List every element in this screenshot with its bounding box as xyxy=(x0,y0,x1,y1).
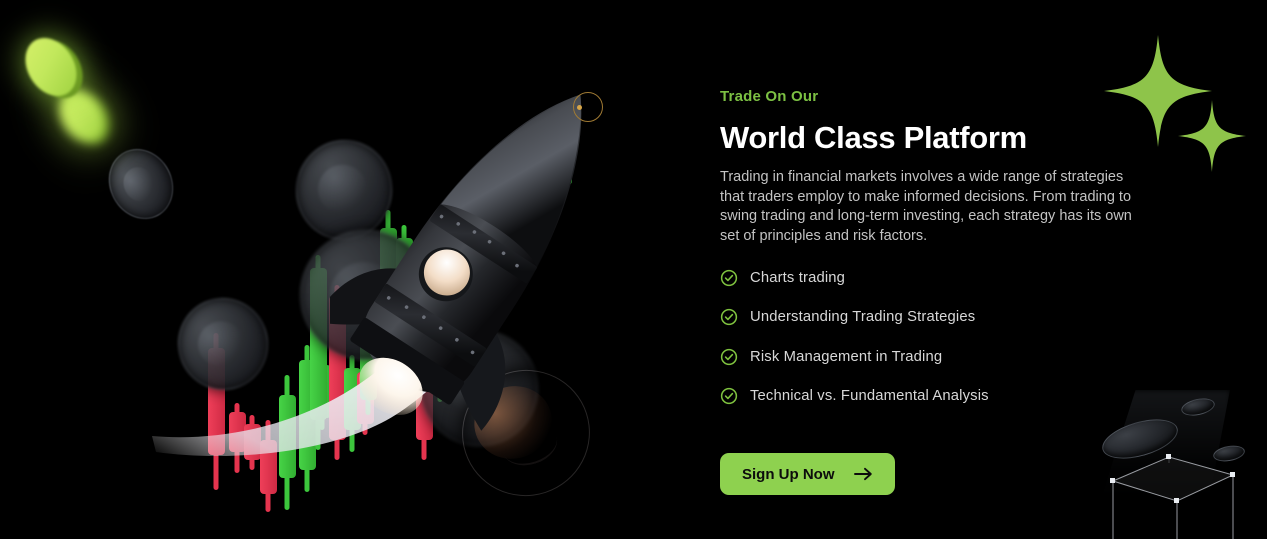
rocket-candlestick-illustration xyxy=(0,0,660,539)
candlestick-body xyxy=(244,424,261,460)
feature-label: Understanding Trading Strategies xyxy=(750,309,975,325)
feature-label: Risk Management in Trading xyxy=(750,349,942,365)
check-circle-icon xyxy=(720,348,738,366)
hero-content: Trade On Our World Class Platform Tradin… xyxy=(720,0,1200,539)
feature-label: Charts trading xyxy=(750,270,845,286)
page-title: World Class Platform xyxy=(720,120,1027,156)
orbit-dot-icon xyxy=(577,105,582,110)
feature-label: Technical vs. Fundamental Analysis xyxy=(750,388,989,404)
list-item: Charts trading xyxy=(720,258,1140,298)
candlestick-body xyxy=(260,440,277,494)
sign-up-button-label: Sign Up Now xyxy=(742,466,835,483)
candlestick-down xyxy=(260,420,277,512)
orbit-ring-icon xyxy=(573,92,603,122)
hero-section: Trade On Our World Class Platform Tradin… xyxy=(0,0,1267,539)
check-circle-icon xyxy=(720,269,738,287)
sign-up-button[interactable]: Sign Up Now xyxy=(720,453,895,495)
feature-list: Charts trading Understanding Trading Str… xyxy=(720,258,1140,416)
list-item: Understanding Trading Strategies xyxy=(720,298,1140,338)
candlestick-down xyxy=(244,415,261,470)
list-item: Technical vs. Fundamental Analysis xyxy=(720,377,1140,417)
check-circle-icon xyxy=(720,308,738,326)
arrow-right-icon xyxy=(854,467,873,481)
candlestick-up xyxy=(279,375,296,510)
candlestick-body xyxy=(279,395,296,478)
eyebrow-text: Trade On Our xyxy=(720,88,818,105)
check-circle-icon xyxy=(720,387,738,405)
list-item: Risk Management in Trading xyxy=(720,337,1140,377)
hero-description: Trading in financial markets involves a … xyxy=(720,168,1138,246)
